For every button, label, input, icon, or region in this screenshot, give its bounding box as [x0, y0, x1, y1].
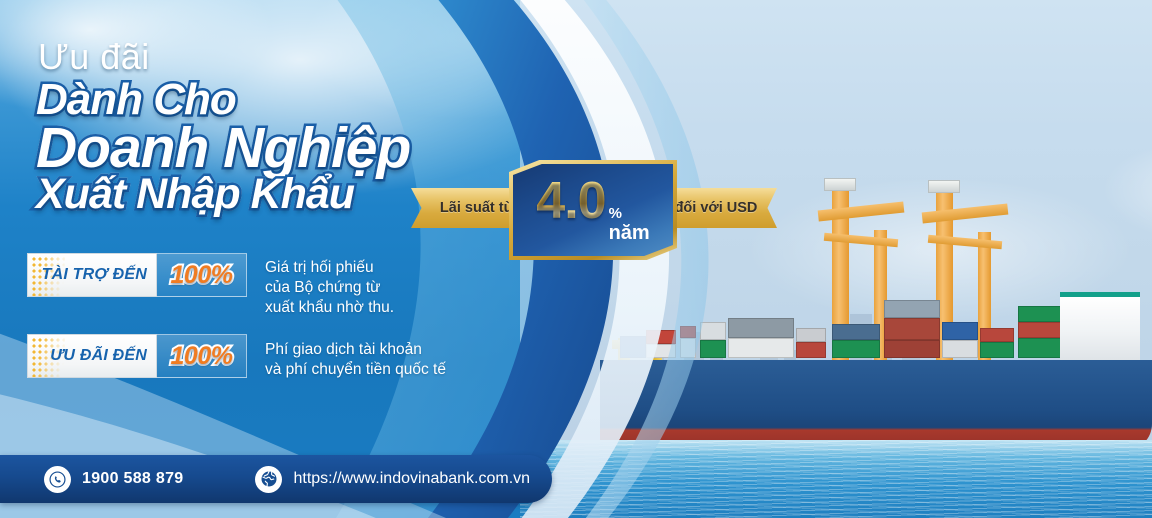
ribbon-prefix-label: Lãi suất từ: [440, 200, 514, 216]
feature-row-discount: ƯU ĐÃI ĐẾN 100%: [27, 334, 247, 378]
feature-label-text-1: TÀI TRỢ ĐẾN: [42, 266, 147, 284]
feature-description-1: Giá trị hối phiếu của Bộ chứng từ xuất k…: [265, 258, 394, 317]
contact-website-url: https://www.indovinabank.com.vn: [293, 470, 530, 488]
feature-desc-1-line-2: của Bộ chứng từ: [265, 278, 394, 298]
headline-line-3-text: Xuất Nhập Khẩu: [36, 170, 354, 218]
phone-circle-icon: [44, 466, 71, 493]
rate-ribbon: Lãi suất từ đối với USD 4.0 % năm: [405, 160, 775, 260]
feature-desc-1-line-3: xuất khẩu nhờ thu.: [265, 298, 394, 318]
globe-icon: [255, 466, 282, 493]
feature-description-2: Phí giao dịch tài khoản và phí chuyển ti…: [265, 340, 446, 380]
feature-percent-box-1: 100%: [157, 253, 247, 297]
feature-percent-box-2: 100%: [157, 334, 247, 378]
promotional-banner: Ưu đãi Dành Cho Doanh Nghiệp Xuất Nhập K…: [0, 0, 1152, 518]
feature-label-box-1: TÀI TRỢ ĐẾN: [27, 253, 157, 297]
feature-desc-2-line-1: Phí giao dịch tài khoản: [265, 340, 446, 360]
rate-unit-block: % năm: [609, 206, 650, 246]
feature-percent-value-2: 100%: [171, 342, 233, 371]
contact-phone-number: 1900 588 879: [82, 470, 183, 488]
feature-label-text-2: ƯU ĐÃI ĐẾN: [50, 347, 147, 365]
contact-website-group[interactable]: https://www.indovinabank.com.vn: [255, 466, 530, 493]
feature-label-box-2: ƯU ĐÃI ĐẾN: [27, 334, 157, 378]
feature-desc-2-line-2: và phí chuyển tiền quốc tế: [265, 360, 446, 380]
rate-badge-hexagon: 4.0 % năm: [513, 164, 673, 256]
feature-row-funding: TÀI TRỢ ĐẾN 100%: [27, 253, 247, 297]
ribbon-suffix-label: đối với USD: [675, 200, 758, 216]
feature-percent-value-1: 100%: [171, 261, 233, 290]
rate-unit-percent: %: [609, 206, 622, 221]
feature-desc-1-line-1: Giá trị hối phiếu: [265, 258, 394, 278]
rate-badge-inner: 4.0 % năm: [536, 175, 649, 246]
rate-unit-period: năm: [609, 223, 650, 243]
rate-value: 4.0: [536, 175, 605, 227]
contact-bar: 1900 588 879 https://www.indovinabank.co…: [0, 455, 552, 503]
contact-phone-group[interactable]: 1900 588 879: [44, 466, 183, 493]
eyebrow-text: Ưu đãi: [38, 36, 150, 78]
